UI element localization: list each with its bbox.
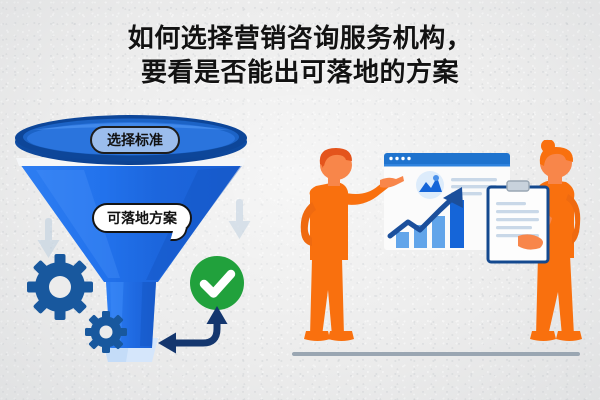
curved-arrow-icon <box>158 306 228 354</box>
soft-arrow-left-icon <box>38 218 60 258</box>
infographic-canvas: 如何选择营销咨询服务机构， 要看是否能出可落地的方案 <box>0 0 600 400</box>
people-dashboard-illustration <box>290 140 600 365</box>
mountain-chart-icon <box>416 171 444 199</box>
soft-arrow-right-icon <box>229 199 251 239</box>
gear-large-icon <box>27 254 93 320</box>
page-title: 如何选择营销咨询服务机构， 要看是否能出可落地的方案 <box>0 22 600 90</box>
label-actionable-plan-text: 可落地方案 <box>107 208 177 228</box>
success-check-badge <box>190 256 244 310</box>
label-selection-criteria-text: 选择标准 <box>107 130 163 150</box>
bar-3 <box>432 216 445 248</box>
label-selection-criteria: 选择标准 <box>90 126 180 154</box>
clipboard <box>488 181 548 262</box>
label-actionable-plan-bubble: 可落地方案 <box>92 203 192 233</box>
title-line-1: 如何选择营销咨询服务机构， <box>0 22 600 56</box>
bar-1 <box>396 232 409 248</box>
title-line-2: 要看是否能出可落地的方案 <box>0 56 600 90</box>
gear-small-icon <box>85 311 127 353</box>
ground-line <box>292 352 580 356</box>
